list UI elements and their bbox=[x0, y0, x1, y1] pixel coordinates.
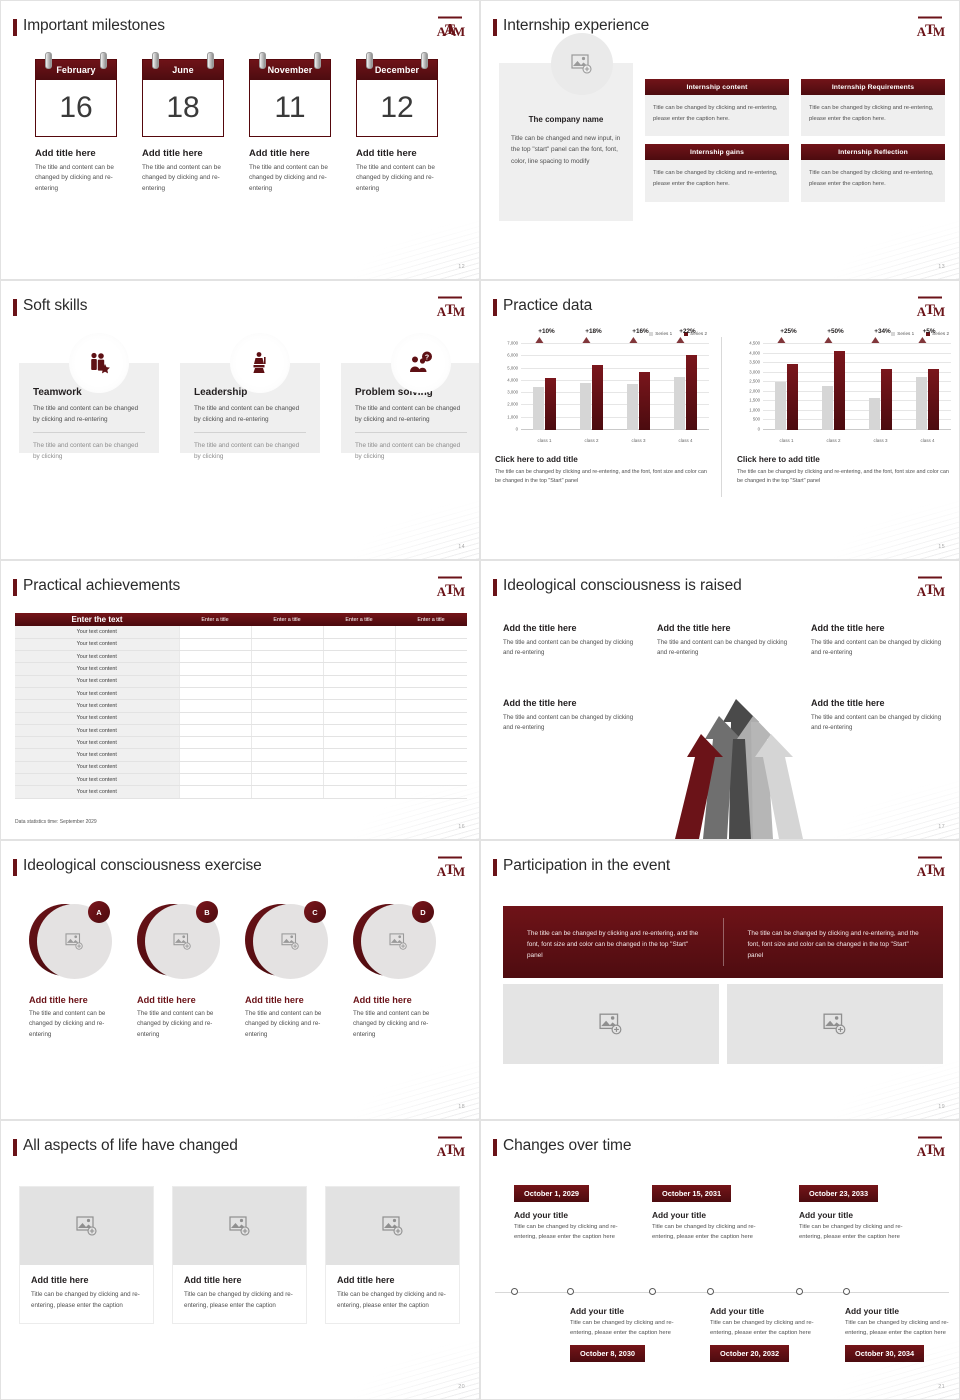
slide-ideological-consciousness-raised[interactable]: Ideological consciousness is raised A T … bbox=[480, 560, 960, 840]
table-row[interactable]: Your text content bbox=[15, 687, 467, 699]
table-row[interactable]: Your text content bbox=[15, 651, 467, 663]
bar-annotation: +5% bbox=[923, 328, 936, 335]
chart-panel-left[interactable]: Series 1 Series 2 01,0002,0003,0004,0005… bbox=[495, 331, 713, 486]
legend-series-1: Series 1 bbox=[649, 331, 672, 336]
bar-annotation: +34% bbox=[874, 328, 891, 335]
ic-title: Add the title here bbox=[657, 623, 797, 633]
bar-group: +50% bbox=[822, 344, 846, 430]
table-row-label[interactable]: Your text content bbox=[15, 626, 179, 638]
table-cell[interactable] bbox=[395, 749, 467, 761]
table-row[interactable]: Your text content bbox=[15, 786, 467, 798]
table-cell[interactable] bbox=[323, 675, 395, 687]
bar-group: +5% bbox=[916, 344, 940, 430]
slide-deck-grid: Important milestones A A T M February 16… bbox=[0, 0, 960, 1400]
timeline-item-top[interactable]: October 23, 2033 Add your title Title ca… bbox=[799, 1183, 925, 1242]
table-cell[interactable] bbox=[251, 786, 323, 798]
achievements-table[interactable]: Enter the textEnter a titleEnter a title… bbox=[15, 613, 467, 799]
texas-am-logo-icon: A T M bbox=[915, 1134, 945, 1162]
page-number: 17 bbox=[938, 824, 945, 830]
chart-caption-body: The title can be changed by clicking and… bbox=[737, 468, 955, 486]
x-axis-label: class 2 bbox=[584, 438, 598, 443]
y-axis-tick: 3,500 bbox=[749, 360, 760, 365]
table-cell[interactable] bbox=[251, 737, 323, 749]
timeline-title: Add your title bbox=[710, 1306, 836, 1316]
circle-card[interactable]: B Add title here The title and content c… bbox=[137, 901, 220, 1040]
growth-arrow-icon bbox=[824, 337, 832, 343]
life-card-body: Title can be changed by clicking and re-… bbox=[184, 1290, 295, 1311]
y-axis-tick: 500 bbox=[753, 417, 760, 422]
table-cell[interactable] bbox=[395, 786, 467, 798]
table-cell[interactable] bbox=[179, 749, 251, 761]
title-accent-bar bbox=[13, 1139, 17, 1156]
image-placeholder-icon[interactable] bbox=[551, 33, 613, 95]
circle-body: The title and content can be changed by … bbox=[353, 1009, 436, 1040]
table-cell[interactable] bbox=[179, 675, 251, 687]
table-cell[interactable] bbox=[323, 626, 395, 638]
table-cell[interactable] bbox=[179, 712, 251, 724]
table-cell[interactable] bbox=[251, 663, 323, 675]
bar-2: +10% bbox=[545, 378, 556, 430]
event-text-right: The title can be changed by clicking and… bbox=[724, 906, 944, 978]
internship-box[interactable]: Internship Requirements Title can be cha… bbox=[801, 79, 945, 136]
calendar-day: 11 bbox=[250, 80, 330, 136]
timeline-date: October 23, 2033 bbox=[799, 1185, 878, 1202]
timeline-dot bbox=[649, 1288, 656, 1295]
slide-soft-skills[interactable]: Soft skills A T M Teamwork The title bbox=[0, 280, 480, 560]
calendar-ring-left bbox=[366, 52, 373, 69]
bar-1 bbox=[627, 384, 638, 430]
bar-1 bbox=[869, 398, 880, 430]
table-cell[interactable] bbox=[251, 761, 323, 773]
table-cell[interactable] bbox=[251, 749, 323, 761]
decorative-swoosh bbox=[249, 469, 479, 559]
chart-caption-body: The title can be changed by clicking and… bbox=[495, 468, 713, 486]
page-title: Practice data bbox=[503, 297, 592, 315]
chart-panel-right[interactable]: Series 1 Series 2 05001,0001,5002,0002,5… bbox=[737, 331, 955, 486]
skill-card[interactable]: ? Problem solving The title and content … bbox=[341, 363, 480, 453]
table-cell[interactable] bbox=[179, 626, 251, 638]
page-number: 21 bbox=[938, 1384, 945, 1390]
svg-text:M: M bbox=[933, 1144, 945, 1159]
x-axis-label: class 3 bbox=[631, 438, 645, 443]
table-cell[interactable] bbox=[395, 638, 467, 650]
table-cell[interactable] bbox=[395, 651, 467, 663]
person-question-icon: ? bbox=[391, 333, 451, 393]
timeline-item-bottom[interactable]: Add your title Title can be changed by c… bbox=[710, 1306, 836, 1362]
x-axis-label: class 3 bbox=[873, 438, 887, 443]
page-title: Internship experience bbox=[503, 17, 649, 35]
table-row-label[interactable]: Your text content bbox=[15, 712, 179, 724]
growth-arrow-icon bbox=[582, 337, 590, 343]
table-cell[interactable] bbox=[395, 700, 467, 712]
ic-item-2[interactable]: Add the title here The title and content… bbox=[657, 623, 797, 659]
table-cell[interactable] bbox=[251, 712, 323, 724]
table-cell[interactable] bbox=[323, 724, 395, 736]
y-axis-tick: 4,500 bbox=[749, 341, 760, 346]
internship-box-body: Title can be changed by clicking and re-… bbox=[645, 160, 789, 201]
chart-bars: +25%+50%+34%+5% bbox=[763, 344, 951, 430]
table-cell[interactable] bbox=[179, 786, 251, 798]
company-name: The company name bbox=[499, 115, 633, 124]
table-cell[interactable] bbox=[323, 786, 395, 798]
y-axis-tick: 6,000 bbox=[507, 353, 518, 358]
timeline-body: Title can be changed by clicking and re-… bbox=[514, 1223, 640, 1242]
table-cell[interactable] bbox=[395, 663, 467, 675]
y-axis-tick: 4,000 bbox=[507, 377, 518, 382]
decorative-swoosh bbox=[249, 189, 479, 279]
bar-1 bbox=[674, 377, 685, 430]
podium-speaker-icon bbox=[230, 333, 290, 393]
bar-group: +10% bbox=[533, 344, 557, 430]
page-title: All aspects of life have changed bbox=[23, 1137, 238, 1155]
table-row-label[interactable]: Your text content bbox=[15, 700, 179, 712]
page-title: Changes over time bbox=[503, 1137, 631, 1155]
page-number: 20 bbox=[458, 1384, 465, 1390]
table-cell[interactable] bbox=[395, 712, 467, 724]
slide-practical-achievements[interactable]: Practical achievements A T M Enter the t… bbox=[0, 560, 480, 840]
life-card[interactable]: Add title here Title can be changed by c… bbox=[19, 1186, 154, 1324]
table-cell[interactable] bbox=[395, 737, 467, 749]
table-row-label[interactable]: Your text content bbox=[15, 737, 179, 749]
table-row[interactable]: Your text content bbox=[15, 749, 467, 761]
table-row-label[interactable]: Your text content bbox=[15, 724, 179, 736]
timeline-axis bbox=[495, 1292, 949, 1293]
page-number: 19 bbox=[938, 1104, 945, 1110]
page-title: Participation in the event bbox=[503, 857, 670, 875]
table-cell[interactable] bbox=[179, 737, 251, 749]
bar-2: +25% bbox=[787, 364, 798, 430]
table-cell[interactable] bbox=[323, 651, 395, 663]
x-axis-label: class 2 bbox=[826, 438, 840, 443]
life-card-title: Add title here bbox=[337, 1275, 448, 1285]
internship-box-head: Internship content bbox=[645, 79, 789, 95]
skill-card[interactable]: Leadership The title and content can be … bbox=[180, 363, 320, 453]
timeline-dot bbox=[511, 1288, 518, 1295]
bar-2: +16% bbox=[639, 372, 650, 430]
circle-card[interactable]: C Add title here The title and content c… bbox=[245, 901, 328, 1040]
skill-subtext: The title and content can be changed by … bbox=[33, 432, 145, 462]
milestone-item[interactable]: June 18 Add title here The title and con… bbox=[142, 59, 224, 194]
image-placeholder-icon[interactable] bbox=[727, 984, 943, 1064]
page-number: 16 bbox=[458, 824, 465, 830]
title-accent-bar bbox=[493, 299, 497, 316]
table-cell[interactable] bbox=[323, 712, 395, 724]
timeline-body: Title can be changed by clicking and re-… bbox=[799, 1223, 925, 1242]
ic-item-3[interactable]: Add the title here The title and content… bbox=[811, 623, 951, 659]
ic-body: The title and content can be changed by … bbox=[503, 638, 643, 659]
table-cell[interactable] bbox=[251, 675, 323, 687]
y-axis-tick: 1,500 bbox=[749, 398, 760, 403]
table-cell[interactable] bbox=[179, 774, 251, 786]
slide-changes-over-time[interactable]: Changes over time A T M October 1, 2029 … bbox=[480, 1120, 960, 1400]
chart-bars: +10%+18%+16%+22% bbox=[521, 344, 709, 430]
table-row-label[interactable]: Your text content bbox=[15, 774, 179, 786]
title-accent-bar bbox=[493, 859, 497, 876]
table-cell[interactable] bbox=[251, 638, 323, 650]
y-axis-tick: 1,000 bbox=[749, 407, 760, 412]
table-row[interactable]: Your text content bbox=[15, 761, 467, 773]
table-cell[interactable] bbox=[323, 737, 395, 749]
milestone-item[interactable]: November 11 Add title here The title and… bbox=[249, 59, 331, 194]
table-row[interactable]: Your text content bbox=[15, 774, 467, 786]
skill-card[interactable]: Teamwork The title and content can be ch… bbox=[19, 363, 159, 453]
timeline-item-top[interactable]: October 15, 2031 Add your title Title ca… bbox=[652, 1183, 778, 1242]
panel-divider bbox=[721, 337, 722, 497]
ic-item-1[interactable]: Add the title here The title and content… bbox=[503, 623, 643, 659]
table-cell[interactable] bbox=[323, 700, 395, 712]
image-placeholder-icon[interactable] bbox=[503, 984, 719, 1064]
event-text-band: The title can be changed by clicking and… bbox=[503, 906, 943, 978]
timeline-date: October 30, 2034 bbox=[845, 1345, 924, 1362]
circle-body: The title and content can be changed by … bbox=[245, 1009, 328, 1040]
y-axis-tick: 2,000 bbox=[507, 402, 518, 407]
slide-internship-experience[interactable]: Internship experience A T M The company … bbox=[480, 0, 960, 280]
skill-body: The title and content can be changed by … bbox=[33, 403, 145, 425]
table-row[interactable]: Your text content bbox=[15, 626, 467, 638]
bar-1 bbox=[533, 387, 544, 430]
life-card[interactable]: Add title here Title can be changed by c… bbox=[325, 1186, 460, 1324]
timeline-date: October 20, 2032 bbox=[710, 1345, 789, 1362]
circle-body: The title and content can be changed by … bbox=[137, 1009, 220, 1040]
internship-box-head: Internship Reflection bbox=[801, 144, 945, 160]
circle-badge: D bbox=[412, 901, 434, 923]
timeline-title: Add your title bbox=[570, 1306, 696, 1316]
decorative-swoosh bbox=[249, 1029, 479, 1119]
circle-body: The title and content can be changed by … bbox=[29, 1009, 112, 1040]
table-cell[interactable] bbox=[323, 687, 395, 699]
ic-item-4[interactable]: Add the title here The title and content… bbox=[503, 698, 643, 734]
table-cell[interactable] bbox=[395, 774, 467, 786]
internship-box-body: Title can be changed by clicking and re-… bbox=[801, 95, 945, 136]
table-cell[interactable] bbox=[395, 687, 467, 699]
table-cell[interactable] bbox=[323, 638, 395, 650]
title-accent-bar bbox=[13, 859, 17, 876]
table-cell[interactable] bbox=[395, 761, 467, 773]
bar-2: +18% bbox=[592, 365, 603, 430]
table-cell[interactable] bbox=[179, 724, 251, 736]
table-row-label[interactable]: Your text content bbox=[15, 687, 179, 699]
internship-box-head: Internship Requirements bbox=[801, 79, 945, 95]
growth-arrow-icon bbox=[629, 337, 637, 343]
page-title: Ideological consciousness exercise bbox=[23, 857, 262, 875]
timeline-body: Title can be changed by clicking and re-… bbox=[570, 1319, 696, 1338]
slide-all-aspects-of-life-have-changed[interactable]: All aspects of life have changed A T M A… bbox=[0, 1120, 480, 1400]
svg-text:M: M bbox=[453, 864, 465, 879]
bar-2: +22% bbox=[686, 355, 697, 430]
internship-box-head: Internship gains bbox=[645, 144, 789, 160]
table-cell[interactable] bbox=[395, 724, 467, 736]
calendar-ring-right bbox=[207, 52, 214, 69]
y-axis-tick: 0 bbox=[758, 427, 760, 432]
table-cell[interactable] bbox=[395, 626, 467, 638]
table-row[interactable]: Your text content bbox=[15, 737, 467, 749]
bar-annotation: +10% bbox=[538, 328, 555, 335]
calendar-icon: December 12 bbox=[356, 59, 438, 137]
svg-text:M: M bbox=[933, 24, 945, 39]
slide-participation-in-the-event[interactable]: Participation in the event A T M The tit… bbox=[480, 840, 960, 1120]
texas-am-logo-icon: A A T M bbox=[435, 14, 465, 42]
y-axis-tick: 7,000 bbox=[507, 341, 518, 346]
table-cell[interactable] bbox=[251, 774, 323, 786]
table-cell[interactable] bbox=[251, 626, 323, 638]
slide-ideological-consciousness-exercise[interactable]: Ideological consciousness exercise A T M… bbox=[0, 840, 480, 1120]
title-accent-bar bbox=[13, 19, 17, 36]
table-cell[interactable] bbox=[179, 663, 251, 675]
table-row[interactable]: Your text content bbox=[15, 638, 467, 650]
calendar-ring-right bbox=[314, 52, 321, 69]
calendar-day: 12 bbox=[357, 80, 437, 136]
table-cell[interactable] bbox=[179, 687, 251, 699]
y-axis-tick: 5,000 bbox=[507, 365, 518, 370]
table-cell[interactable] bbox=[323, 749, 395, 761]
x-axis-label: class 4 bbox=[920, 438, 934, 443]
calendar-icon: February 16 bbox=[35, 59, 117, 137]
event-text-left: The title can be changed by clicking and… bbox=[503, 906, 723, 978]
table-row[interactable]: Your text content bbox=[15, 724, 467, 736]
page-title: Ideological consciousness is raised bbox=[503, 577, 742, 595]
internship-box[interactable]: Internship content Title can be changed … bbox=[645, 79, 789, 136]
table-cell[interactable] bbox=[179, 638, 251, 650]
timeline-title: Add your title bbox=[514, 1210, 640, 1220]
table-row-label[interactable]: Your text content bbox=[15, 663, 179, 675]
bar-annotation: +22% bbox=[679, 328, 696, 335]
circle-title: Add title here bbox=[353, 995, 436, 1005]
slide-practice-data[interactable]: Practice data A T M Series 1 Series 2 01… bbox=[480, 280, 960, 560]
table-cell[interactable] bbox=[179, 761, 251, 773]
milestone-list: February 16 Add title here The title and… bbox=[35, 59, 438, 194]
table-cell[interactable] bbox=[323, 774, 395, 786]
table-cell[interactable] bbox=[251, 687, 323, 699]
internship-box[interactable]: Internship gains Title can be changed by… bbox=[645, 144, 789, 201]
texas-am-logo-icon: A T M bbox=[435, 574, 465, 602]
y-axis-tick: 3,000 bbox=[507, 390, 518, 395]
bar-1 bbox=[580, 383, 591, 430]
calendar-ring-right bbox=[421, 52, 428, 69]
svg-text:M: M bbox=[453, 24, 465, 39]
texas-am-logo-icon: A T M bbox=[915, 14, 945, 42]
milestone-item[interactable]: February 16 Add title here The title and… bbox=[35, 59, 117, 194]
life-card[interactable]: Add title here Title can be changed by c… bbox=[172, 1186, 307, 1324]
table-row[interactable]: Your text content bbox=[15, 712, 467, 724]
table-cell[interactable] bbox=[251, 651, 323, 663]
y-axis-tick: 0 bbox=[516, 427, 518, 432]
table-cell[interactable] bbox=[395, 675, 467, 687]
y-axis-tick: 3,000 bbox=[749, 369, 760, 374]
texas-am-logo-icon: A T M bbox=[435, 1134, 465, 1162]
timeline-title: Add your title bbox=[845, 1306, 960, 1316]
bar-chart-2: 05001,0001,5002,0002,5003,0003,5004,0004… bbox=[737, 340, 955, 446]
slide-important-milestones[interactable]: Important milestones A A T M February 16… bbox=[0, 0, 480, 280]
circle-badge: A bbox=[88, 901, 110, 923]
company-desc: Title can be changed and new input, in t… bbox=[511, 133, 623, 167]
milestone-item[interactable]: December 12 Add title here The title and… bbox=[356, 59, 438, 194]
title-accent-bar bbox=[13, 579, 17, 596]
table-row[interactable]: Your text content bbox=[15, 663, 467, 675]
timeline-date: October 1, 2029 bbox=[514, 1185, 589, 1202]
milestone-title: Add title here bbox=[142, 148, 224, 159]
ic-body: The title and content can be changed by … bbox=[811, 638, 951, 659]
table-header-cell: Enter a title bbox=[179, 613, 251, 626]
calendar-ring-left bbox=[45, 52, 52, 69]
milestone-desc: The title and content can be changed by … bbox=[249, 163, 331, 194]
calendar-icon: November 11 bbox=[249, 59, 331, 137]
circle-card[interactable]: A Add title here The title and content c… bbox=[29, 901, 112, 1040]
skill-body: The title and content can be changed by … bbox=[355, 403, 467, 425]
timeline-item-bottom[interactable]: Add your title Title can be changed by c… bbox=[845, 1306, 960, 1362]
skill-body: The title and content can be changed by … bbox=[194, 403, 306, 425]
y-axis-tick: 4,000 bbox=[749, 350, 760, 355]
event-image-row bbox=[503, 984, 943, 1064]
timeline-date: October 8, 2030 bbox=[570, 1345, 645, 1362]
image-placeholder-icon[interactable] bbox=[173, 1187, 306, 1265]
image-placeholder-icon[interactable] bbox=[20, 1187, 153, 1265]
table-cell[interactable] bbox=[323, 761, 395, 773]
table-row-label[interactable]: Your text content bbox=[15, 675, 179, 687]
life-card-body: Title can be changed by clicking and re-… bbox=[31, 1290, 142, 1311]
y-axis-tick: 2,000 bbox=[749, 388, 760, 393]
ic-title: Add the title here bbox=[811, 698, 951, 708]
table-row[interactable]: Your text content bbox=[15, 675, 467, 687]
texas-am-logo-icon: A T M bbox=[915, 854, 945, 882]
table-row-label[interactable]: Your text content bbox=[15, 749, 179, 761]
calendar-day: 18 bbox=[143, 80, 223, 136]
bar-annotation: +25% bbox=[780, 328, 797, 335]
table-cell[interactable] bbox=[179, 651, 251, 663]
table-row-label[interactable]: Your text content bbox=[15, 651, 179, 663]
milestone-desc: The title and content can be changed by … bbox=[35, 163, 117, 194]
page-title: Important milestones bbox=[23, 17, 165, 35]
table-cell[interactable] bbox=[323, 663, 395, 675]
company-card[interactable]: The company name Title can be changed an… bbox=[499, 63, 633, 221]
milestone-desc: The title and content can be changed by … bbox=[356, 163, 438, 194]
bar-group: +22% bbox=[674, 344, 698, 430]
y-axis-tick: 1,000 bbox=[507, 414, 518, 419]
table-header-cell: Enter a title bbox=[251, 613, 323, 626]
life-card-title: Add title here bbox=[31, 1275, 142, 1285]
svg-text:M: M bbox=[453, 304, 465, 319]
timeline-body: Title can be changed by clicking and re-… bbox=[652, 1223, 778, 1242]
timeline-item-bottom[interactable]: Add your title Title can be changed by c… bbox=[570, 1306, 696, 1362]
milestone-desc: The title and content can be changed by … bbox=[142, 163, 224, 194]
image-placeholder-icon[interactable] bbox=[326, 1187, 459, 1265]
table-cell[interactable] bbox=[179, 700, 251, 712]
timeline-title: Add your title bbox=[652, 1210, 778, 1220]
table-cell[interactable] bbox=[251, 724, 323, 736]
ic-body: The title and content can be changed by … bbox=[811, 713, 951, 734]
table-row[interactable]: Your text content bbox=[15, 700, 467, 712]
team-star-icon bbox=[69, 333, 129, 393]
bar-2: +5% bbox=[928, 369, 939, 430]
skill-subtext: The title and content can be changed by … bbox=[194, 432, 306, 462]
ic-item-5[interactable]: Add the title here The title and content… bbox=[811, 698, 951, 734]
table-row-label[interactable]: Your text content bbox=[15, 638, 179, 650]
bar-annotation: +16% bbox=[632, 328, 649, 335]
table-row-label[interactable]: Your text content bbox=[15, 786, 179, 798]
texas-am-logo-icon: A T M bbox=[435, 294, 465, 322]
table-header-main: Enter the text bbox=[15, 613, 179, 626]
timeline-item-top[interactable]: October 1, 2029 Add your title Title can… bbox=[514, 1183, 640, 1242]
page-title: Soft skills bbox=[23, 297, 87, 315]
table-header-cell: Enter a title bbox=[323, 613, 395, 626]
growth-arrow-icon bbox=[777, 337, 785, 343]
circle-title: Add title here bbox=[245, 995, 328, 1005]
internship-box[interactable]: Internship Reflection Title can be chang… bbox=[801, 144, 945, 201]
table-cell[interactable] bbox=[251, 700, 323, 712]
ic-body: The title and content can be changed by … bbox=[503, 713, 643, 734]
table-row-label[interactable]: Your text content bbox=[15, 761, 179, 773]
circle-card[interactable]: D Add title here The title and content c… bbox=[353, 901, 436, 1040]
timeline-dot bbox=[567, 1288, 574, 1295]
